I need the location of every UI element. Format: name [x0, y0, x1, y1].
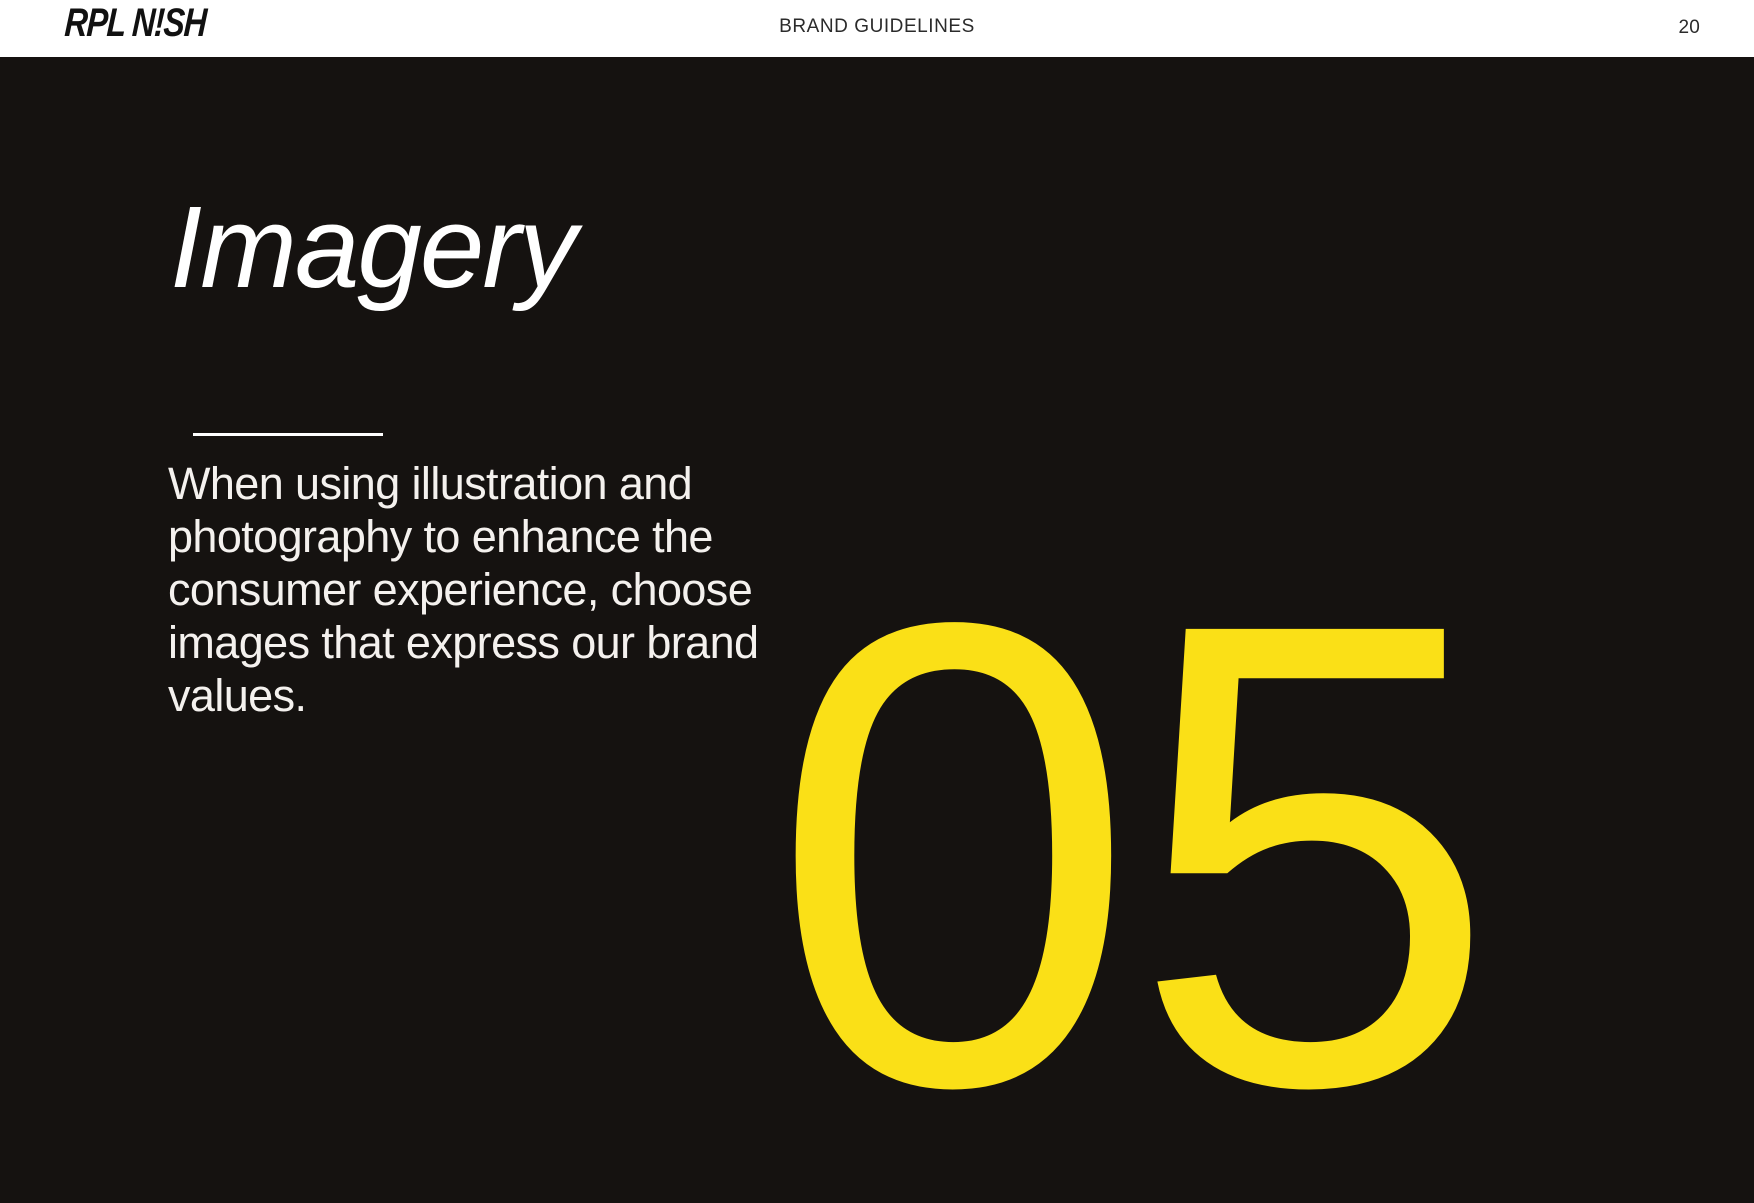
description-line: images that express our brand [168, 616, 768, 669]
slide-canvas: RPL N!SH BRAND GUIDELINES 20 Imagery Whe… [0, 0, 1754, 1203]
description-line: consumer experience, choose [168, 563, 768, 616]
title-divider-rule [193, 433, 383, 436]
slide-body: Imagery When using illustration and phot… [0, 57, 1754, 1203]
section-number: 05 [770, 525, 1492, 1185]
section-description: When using illustration and photography … [168, 457, 768, 722]
document-title: BRAND GUIDELINES [0, 16, 1754, 38]
description-line: photography to enhance the [168, 510, 768, 563]
section-title: Imagery [170, 189, 575, 305]
page-header: RPL N!SH BRAND GUIDELINES 20 [0, 0, 1754, 57]
description-line: values. [168, 669, 768, 722]
page-number: 20 [1678, 17, 1700, 39]
description-line: When using illustration and [168, 457, 768, 510]
